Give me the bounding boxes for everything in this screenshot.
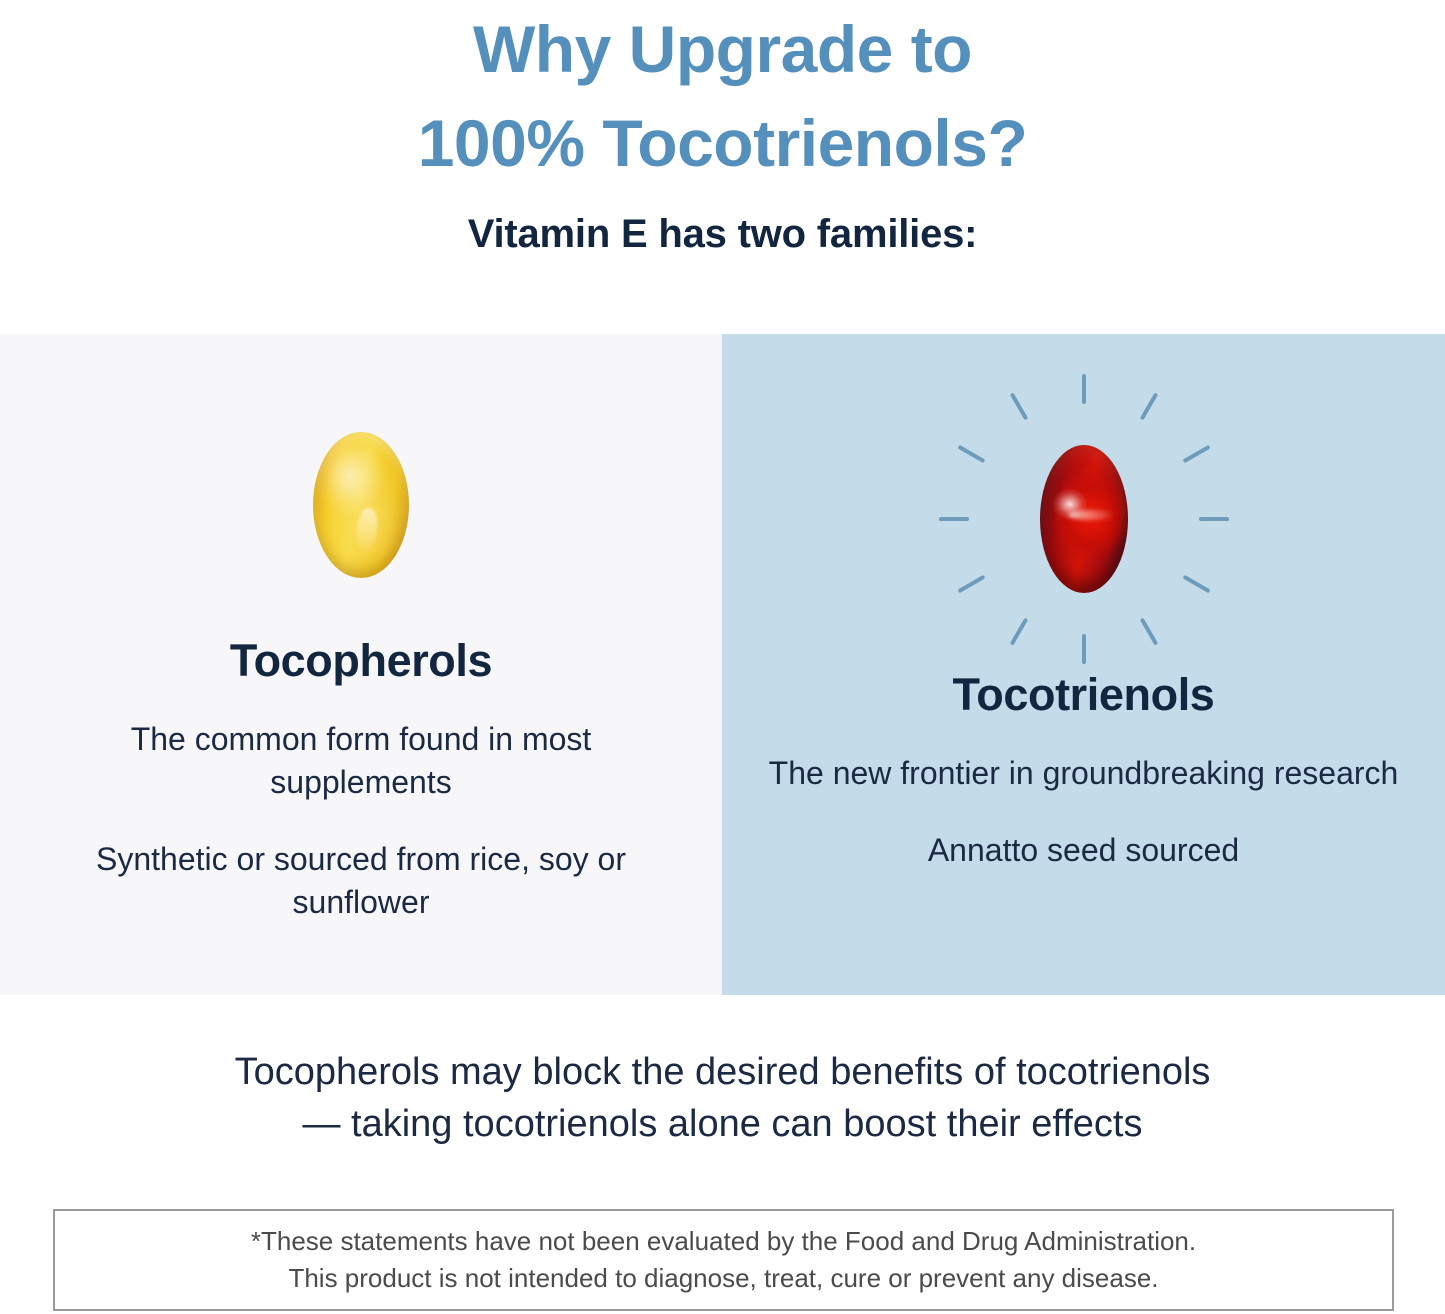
page-title: Why Upgrade to 100% Tocotrienols?: [0, 2, 1445, 190]
fda-disclaimer-line-2: This product is not intended to diagnose…: [288, 1260, 1158, 1297]
tocopherols-heading: Tocopherols: [40, 634, 682, 688]
page-title-line-2: 100% Tocotrienols?: [0, 96, 1445, 190]
sunburst-ray: [957, 575, 985, 593]
tocotrienols-description-2-line-1: Annatto seed sourced: [928, 832, 1239, 868]
sunburst-ray: [1139, 618, 1157, 646]
header-section: Why Upgrade to 100% Tocotrienols? Vitami…: [0, 0, 1445, 334]
page-subtitle: Vitamin E has two families:: [0, 206, 1445, 262]
summary-statement-line-1: Tocopherols may block the desired benefi…: [0, 1046, 1445, 1098]
sunburst-ray: [1082, 374, 1086, 404]
tocotrienols-text-block: Tocotrienols The new frontier in groundb…: [722, 668, 1445, 872]
fda-disclaimer-line-1: *These statements have not been evaluate…: [251, 1223, 1196, 1260]
tocopherols-description-1-line-1: The common form found: [131, 721, 480, 757]
tocotrienols-description-2: Annatto seed sourced: [762, 829, 1405, 872]
red-softgel-capsule-icon: [1040, 445, 1128, 593]
tocopherols-description-1: The common form found in most supplement…: [40, 718, 682, 804]
tocotrienols-heading: Tocotrienols: [762, 668, 1405, 722]
sunburst-ray: [1082, 634, 1086, 664]
tocotrienols-description-1-line-2: groundbreaking research: [1043, 755, 1399, 791]
tocopherols-description-2: Synthetic or sourced from rice, soy or s…: [40, 838, 682, 924]
tocopherols-text-block: Tocopherols The common form found in mos…: [0, 634, 722, 924]
page-title-line-1: Why Upgrade to: [0, 2, 1445, 96]
sunburst-ray: [1009, 392, 1027, 420]
panel-tocotrienols: Tocotrienols The new frontier in groundb…: [722, 334, 1445, 995]
summary-statement: Tocopherols may block the desired benefi…: [0, 1046, 1445, 1150]
tocotrienols-artwork: [722, 374, 1445, 664]
infographic-page: Why Upgrade to 100% Tocotrienols? Vitami…: [0, 0, 1445, 1314]
sunburst-ray: [1182, 575, 1210, 593]
sunburst-ray: [1199, 517, 1229, 521]
tocopherols-description-2-line-1: Synthetic or sourced from: [96, 841, 461, 877]
tocotrienols-description-1: The new frontier in groundbreaking resea…: [762, 752, 1405, 795]
yellow-softgel-capsule-icon: [313, 432, 409, 578]
sunburst-ray: [1182, 445, 1210, 463]
sunburst-ray: [939, 517, 969, 521]
comparison-panels: Tocopherols The common form found in mos…: [0, 334, 1445, 995]
sunburst-ray: [1009, 618, 1027, 646]
tocopherols-artwork: [0, 420, 722, 590]
fda-disclaimer-box: *These statements have not been evaluate…: [53, 1209, 1394, 1311]
sunburst-rays-icon: [939, 374, 1229, 664]
panel-tocopherols: Tocopherols The common form found in mos…: [0, 334, 722, 995]
summary-statement-line-2: — taking tocotrienols alone can boost th…: [0, 1098, 1445, 1150]
sunburst-ray: [1139, 392, 1157, 420]
sunburst-ray: [957, 445, 985, 463]
tocotrienols-description-1-line-1: The new frontier in: [769, 755, 1034, 791]
